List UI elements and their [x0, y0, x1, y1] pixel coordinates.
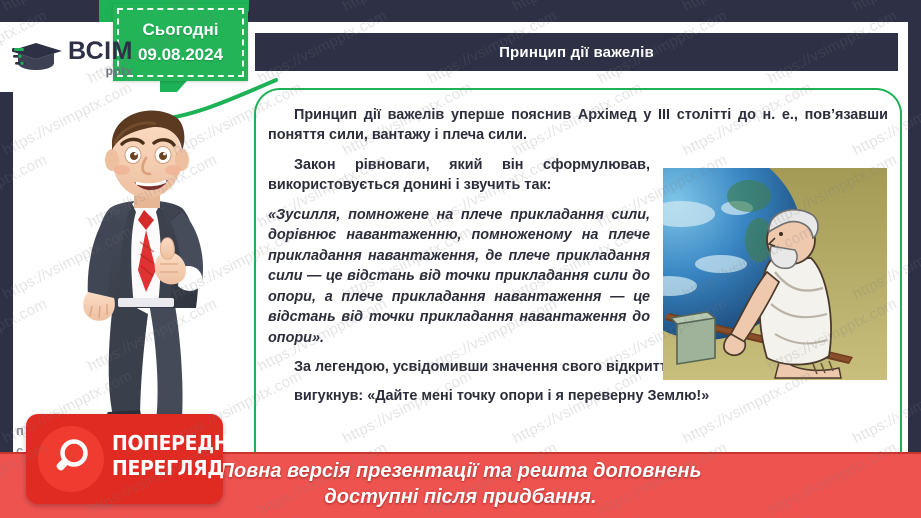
- paragraph-3-quote: «Зусилля, помножене на плече прикладання…: [268, 205, 650, 348]
- slide-canvas: ВСІМ pptx Сьогодні 09.08.2024 Принцип ді…: [0, 0, 921, 518]
- logo-subtitle: pptx: [68, 65, 133, 77]
- preview-badge-line-2: ПЕРЕГЛЯД: [112, 456, 210, 481]
- slide-title-bar: Принцип дії важелів: [255, 33, 898, 71]
- purchase-notice-line-2: доступні після придбання.: [324, 485, 596, 511]
- brand-logo[interactable]: ВСІМ pptx: [12, 34, 152, 82]
- preview-badge[interactable]: ПОПЕРЕДНІЙ ПЕРЕГЛЯД: [26, 414, 223, 504]
- paragraph-1: Принцип дії важелів уперше пояснив Архім…: [268, 105, 888, 146]
- paragraph-5: вигукнув: «Дайте мені точку опори і я пе…: [268, 386, 888, 406]
- page-title: Принцип дії важелів: [499, 44, 654, 61]
- businessman-character: [44, 100, 259, 430]
- paragraph-2: Закон рівноваги, який він сформулював, в…: [268, 155, 650, 196]
- purchase-notice-line-1: Повна версія презентації та решта доповн…: [220, 459, 702, 485]
- magnifier-icon: [38, 426, 104, 492]
- preview-badge-line-1: ПОПЕРЕДНІЙ: [112, 431, 210, 456]
- date-badge-label: Сьогодні: [143, 18, 219, 42]
- logo-name: ВСІМ: [68, 39, 133, 64]
- graduation-cap-icon: [12, 38, 64, 78]
- archimedes-lever-illustration: [663, 168, 887, 380]
